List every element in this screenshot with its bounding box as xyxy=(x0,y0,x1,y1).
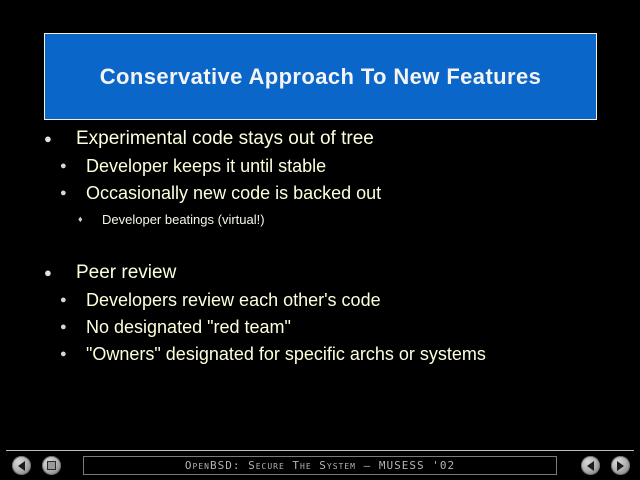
triangle-left-icon xyxy=(581,456,600,475)
contents-button[interactable] xyxy=(42,456,61,475)
list-item: ● Experimental code stays out of tree xyxy=(0,128,640,156)
bullet-disc-icon: ● xyxy=(60,344,86,365)
list-item: ● Occasionally new code is backed out xyxy=(0,183,640,210)
list-item-label: Experimental code stays out of tree xyxy=(76,128,374,150)
bullet-disc-icon: ● xyxy=(44,128,76,150)
square-icon xyxy=(42,456,61,475)
list-item-label: "Owners" designated for specific archs o… xyxy=(86,344,486,365)
footer-nav-bar: OpenBSD: Secure The System — MUSESS '02 xyxy=(0,455,640,477)
slide-body: ● Experimental code stays out of tree ● … xyxy=(0,128,640,371)
list-item: ● "Owners" designated for specific archs… xyxy=(0,344,640,371)
list-spacer xyxy=(0,236,640,262)
list-item: ● No designated "red team" xyxy=(0,317,640,344)
previous-slide-button[interactable] xyxy=(581,456,600,475)
page-title: Conservative Approach To New Features xyxy=(100,64,541,90)
bullet-disc-icon: ● xyxy=(44,262,76,284)
triangle-right-icon xyxy=(611,456,630,475)
list-item: ● Peer review xyxy=(0,262,640,290)
slide-canvas: Conservative Approach To New Features ● … xyxy=(0,0,640,480)
bullet-disc-icon: ● xyxy=(60,183,86,204)
list-item-label: Developer beatings (virtual!) xyxy=(102,210,265,229)
footer-divider xyxy=(6,450,634,451)
list-item: ● Developers review each other's code xyxy=(0,290,640,317)
footer-title: OpenBSD: Secure The System — MUSESS '02 xyxy=(185,459,455,472)
bullet-disc-icon: ● xyxy=(60,290,86,311)
list-item-label: Occasionally new code is backed out xyxy=(86,183,381,204)
first-slide-button[interactable] xyxy=(12,456,31,475)
list-item-label: Peer review xyxy=(76,262,176,284)
bullet-disc-icon: ● xyxy=(60,156,86,177)
list-item-label: No designated "red team" xyxy=(86,317,291,338)
footer-title-box: OpenBSD: Secure The System — MUSESS '02 xyxy=(83,456,557,475)
list-item-label: Developers review each other's code xyxy=(86,290,381,311)
bullet-disc-icon: ● xyxy=(60,317,86,338)
bullet-diamond-icon: ♦ xyxy=(78,210,102,229)
slide-title-banner: Conservative Approach To New Features xyxy=(44,33,597,120)
list-item-label: Developer keeps it until stable xyxy=(86,156,326,177)
next-slide-button[interactable] xyxy=(611,456,630,475)
triangle-left-icon xyxy=(12,456,31,475)
list-item: ♦ Developer beatings (virtual!) xyxy=(0,210,640,236)
list-item: ● Developer keeps it until stable xyxy=(0,156,640,183)
